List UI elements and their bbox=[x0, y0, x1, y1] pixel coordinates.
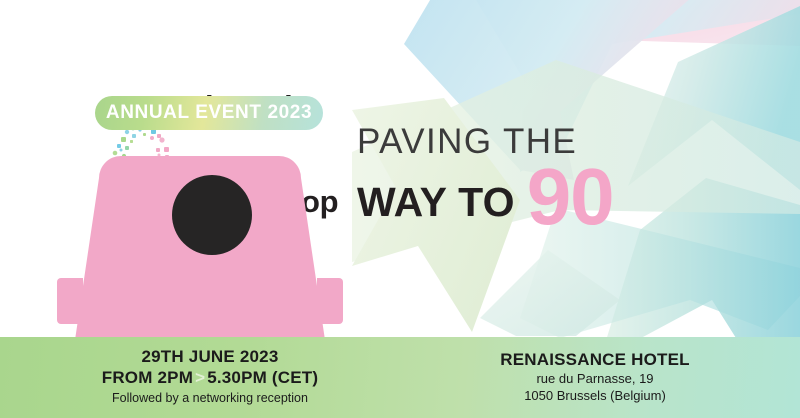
annual-event-badge: ANNUAL EVENT 2023 bbox=[95, 96, 323, 130]
headline-line-2: WAY TO bbox=[357, 182, 515, 223]
event-date-block: 29TH JUNE 2023 FROM 2PM>5.30PM (CET) Fol… bbox=[0, 347, 420, 407]
headline-line-2-row: WAY TO 90 bbox=[357, 157, 614, 223]
annual-event-badge-label: ANNUAL EVENT 2023 bbox=[106, 102, 312, 124]
headline-target-number: 90 bbox=[527, 165, 614, 229]
event-poster: close the glass loop ANNUAL EVENT 2023 P… bbox=[0, 0, 800, 418]
event-venue-block: RENAISSANCE HOTEL rue du Parnasse, 19 10… bbox=[420, 350, 800, 405]
event-time-row: FROM 2PM>5.30PM (CET) bbox=[0, 368, 420, 389]
event-date: 29TH JUNE 2023 bbox=[0, 347, 420, 368]
venue-name: RENAISSANCE HOTEL bbox=[420, 350, 770, 371]
venue-city: 1050 Brussels (Belgium) bbox=[420, 388, 770, 405]
event-reception-note: Followed by a networking reception bbox=[0, 389, 420, 408]
event-time-end: 5.30PM (CET) bbox=[207, 368, 318, 387]
venue-street: rue du Parnasse, 19 bbox=[420, 371, 770, 388]
page-title: PAVING THE WAY TO 90 bbox=[357, 124, 614, 223]
glass-recycling-bank-illustration bbox=[55, 150, 345, 340]
event-time-start: FROM 2PM bbox=[102, 368, 193, 387]
event-info-bar: 29TH JUNE 2023 FROM 2PM>5.30PM (CET) Fol… bbox=[0, 337, 800, 418]
time-range-arrow-icon: > bbox=[193, 368, 207, 387]
